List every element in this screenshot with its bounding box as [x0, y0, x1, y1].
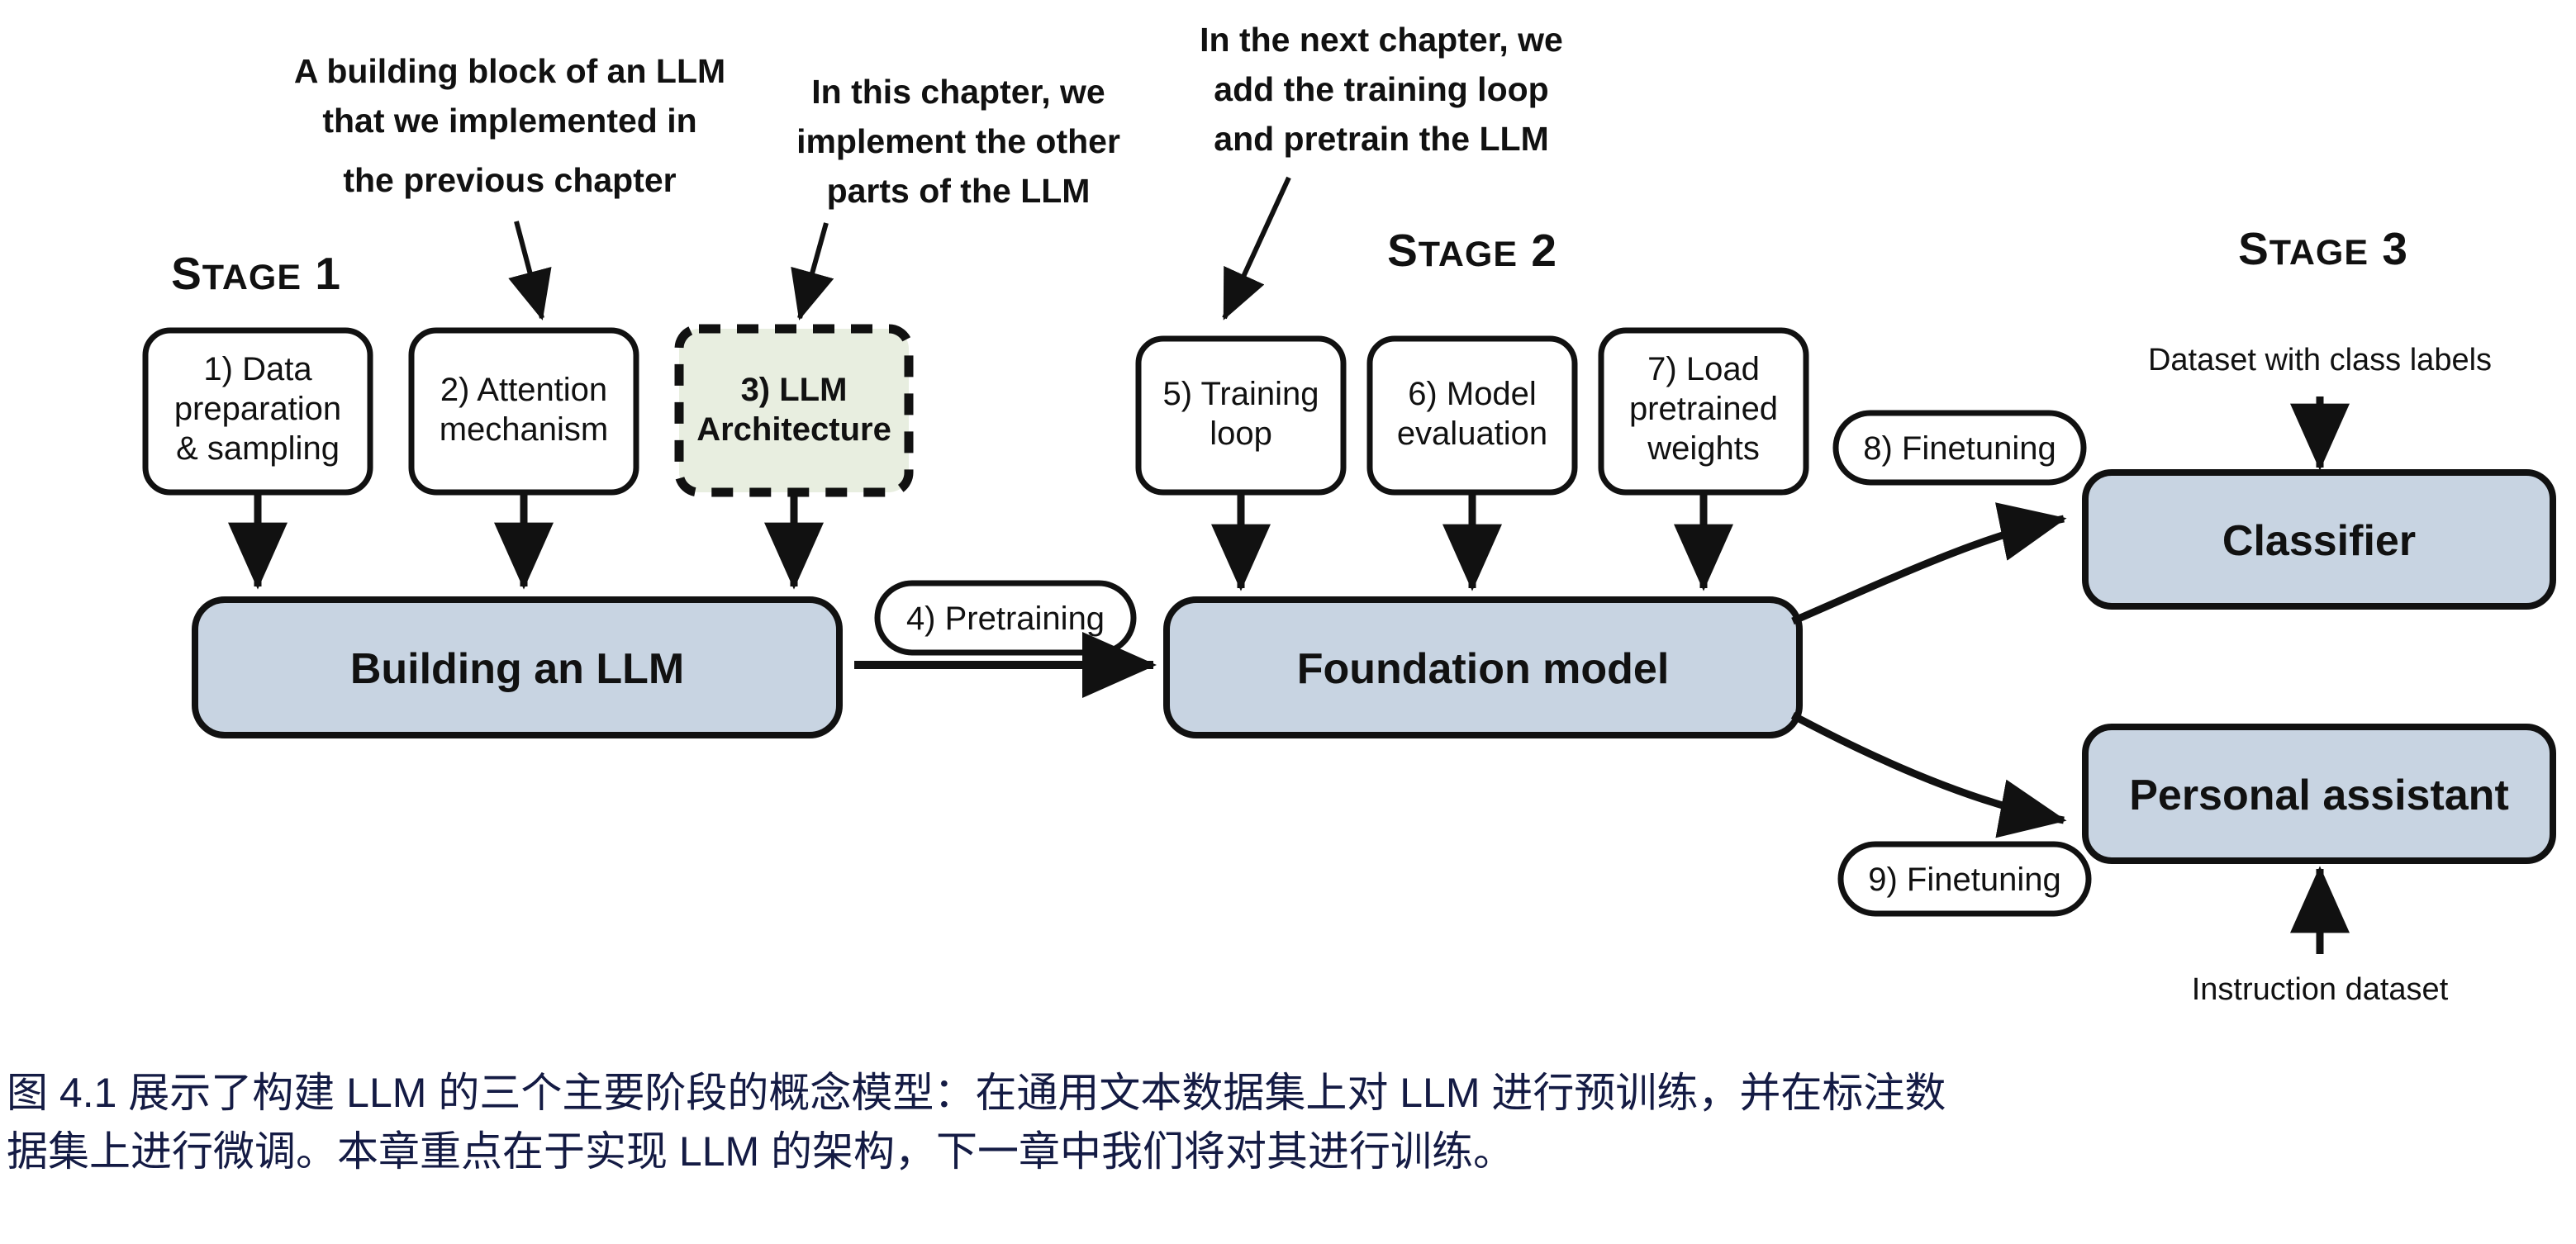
box-data-preparation[interactable]: 1) Data preparation & sampling — [145, 330, 370, 492]
stage-2-rest: TAGE — [1419, 235, 1518, 274]
anno-arrow-next-chapter — [1224, 178, 1289, 318]
anno-previous-chapter: A building block of an LLM that we imple… — [294, 52, 725, 199]
anno-this-chapter-line-1: In this chapter, we — [811, 73, 1105, 111]
anno-arrow-previous-chapter — [516, 221, 542, 318]
arrow-foundation-to-classifier — [1793, 519, 2064, 621]
anno-this-chapter-line-3: parts of the LLM — [827, 172, 1091, 210]
anno-next-chapter-line-3: and pretrain the LLM — [1214, 120, 1548, 158]
box-attention-mechanism[interactable]: 2) Attention mechanism — [411, 330, 636, 492]
box-attention-mechanism-line-1: 2) Attention — [440, 372, 607, 408]
stage-3-first: S — [2238, 223, 2269, 274]
box-llm-architecture-line-2: Architecture — [696, 411, 891, 448]
box-llm-architecture-line-1: 3) LLM — [741, 372, 848, 408]
stage-1-num: 1 — [315, 248, 341, 299]
pill-finetuning-9-label: 9) Finetuning — [1868, 862, 2060, 898]
node-classifier-label: Classifier — [2222, 517, 2416, 565]
node-personal-assistant[interactable]: Personal assistant — [2085, 727, 2553, 861]
figure-caption-line-1: 图 4.1 展示了构建 LLM 的三个主要阶段的概念模型：在通用文本数据集上对 … — [7, 1064, 2568, 1123]
llm-stages-diagram: A building block of an LLM that we imple… — [0, 0, 2576, 1244]
anno-previous-chapter-line-3: the previous chapter — [343, 161, 676, 199]
svg-text:STAGE 2: STAGE 2 — [1387, 225, 1557, 276]
node-building-an-llm[interactable]: Building an LLM — [195, 600, 839, 735]
stage-3-label: STAGE 3 — [2238, 223, 2408, 274]
pill-pretraining-label: 4) Pretraining — [906, 601, 1105, 637]
stage-1-rest: TAGE — [202, 258, 302, 297]
figure-canvas: A building block of an LLM that we imple… — [0, 0, 2576, 1244]
anno-previous-chapter-line-1: A building block of an LLM — [294, 52, 725, 90]
box-data-preparation-line-3: & sampling — [176, 430, 340, 467]
pill-finetuning-8-label: 8) Finetuning — [1863, 430, 2056, 467]
box-attention-mechanism-line-2: mechanism — [440, 411, 609, 448]
stage-2-label: STAGE 2 — [1387, 225, 1557, 276]
anno-next-chapter-line-2: add the training loop — [1214, 70, 1548, 108]
anno-arrow-this-chapter — [800, 223, 826, 318]
box-training-loop[interactable]: 5) Training loop — [1138, 339, 1343, 492]
box-model-evaluation-line-1: 6) Model — [1408, 376, 1537, 412]
label-dataset-class-labels: Dataset with class labels — [2148, 343, 2492, 377]
node-personal-assistant-label: Personal assistant — [2129, 772, 2509, 819]
box-load-pretrained-weights[interactable]: 7) Load pretrained weights — [1601, 330, 1806, 492]
svg-text:STAGE 3: STAGE 3 — [2238, 223, 2408, 274]
stage-2-num: 2 — [1531, 225, 1557, 276]
node-foundation-model-label: Foundation model — [1297, 645, 1670, 693]
node-foundation-model[interactable]: Foundation model — [1167, 600, 1799, 735]
pill-finetuning-9[interactable]: 9) Finetuning — [1841, 844, 2089, 914]
arrow-foundation-to-personal-assistant — [1793, 715, 2064, 820]
box-training-loop-line-1: 5) Training — [1163, 376, 1319, 412]
box-model-evaluation-line-2: evaluation — [1397, 415, 1547, 452]
box-training-loop-line-2: loop — [1210, 415, 1272, 452]
svg-text:STAGE 1: STAGE 1 — [171, 248, 341, 299]
pill-finetuning-8[interactable]: 8) Finetuning — [1836, 413, 2084, 482]
anno-this-chapter-line-2: implement the other — [796, 122, 1120, 160]
figure-caption: 图 4.1 展示了构建 LLM 的三个主要阶段的概念模型：在通用文本数据集上对 … — [7, 1064, 2568, 1181]
box-data-preparation-line-2: preparation — [174, 391, 341, 427]
anno-this-chapter: In this chapter, we implement the other … — [796, 73, 1120, 210]
box-data-preparation-line-1: 1) Data — [203, 351, 312, 387]
figure-caption-line-2: 据集上进行微调。本章重点在于实现 LLM 的架构，下一章中我们将对其进行训练。 — [7, 1123, 2568, 1181]
node-classifier[interactable]: Classifier — [2085, 472, 2553, 606]
box-load-pretrained-weights-line-1: 7) Load — [1647, 351, 1760, 387]
anno-previous-chapter-line-2: that we implemented in — [322, 102, 696, 140]
stage-1-first: S — [171, 248, 202, 299]
pill-pretraining[interactable]: 4) Pretraining — [877, 583, 1134, 653]
node-building-an-llm-label: Building an LLM — [350, 645, 684, 693]
box-load-pretrained-weights-line-3: weights — [1647, 430, 1760, 467]
label-instruction-dataset: Instruction dataset — [2192, 972, 2449, 1007]
stage-2-first: S — [1387, 225, 1419, 276]
stage-3-rest: TAGE — [2269, 233, 2369, 273]
box-model-evaluation[interactable]: 6) Model evaluation — [1370, 339, 1575, 492]
anno-next-chapter: In the next chapter, we add the training… — [1200, 21, 1563, 158]
anno-next-chapter-line-1: In the next chapter, we — [1200, 21, 1563, 59]
stage-3-num: 3 — [2382, 223, 2408, 274]
box-load-pretrained-weights-line-2: pretrained — [1629, 391, 1778, 427]
stage-1-label: STAGE 1 — [171, 248, 341, 299]
box-llm-architecture[interactable]: 3) LLM Architecture — [679, 329, 909, 492]
